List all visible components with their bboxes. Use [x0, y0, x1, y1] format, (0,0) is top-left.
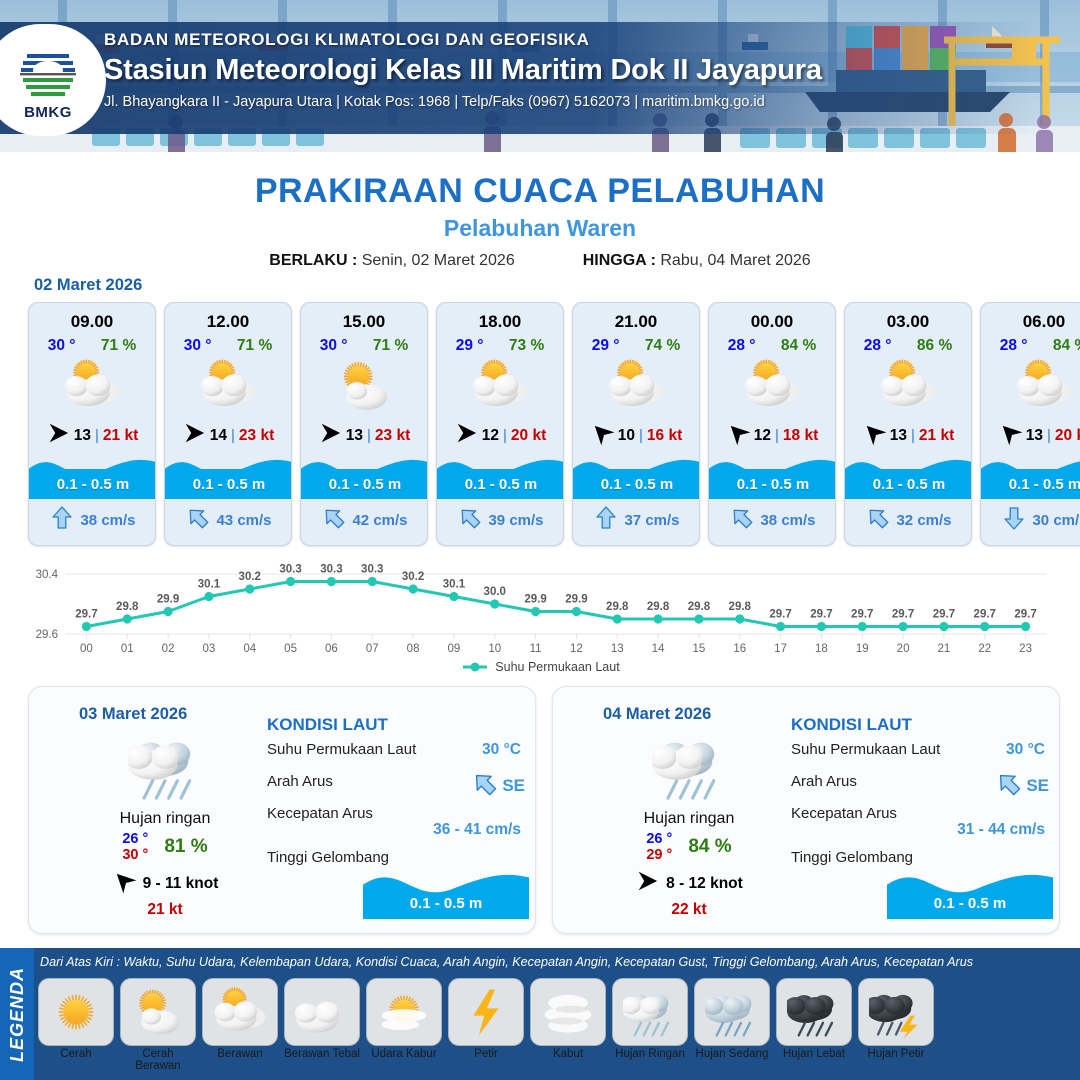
legend-item-label: Cerah Berawan: [120, 1048, 196, 1072]
legend-item: Berawan: [202, 978, 278, 1072]
card-wind: 12 | 20 kt: [437, 421, 563, 450]
sea-row-label: Tinggi Gelombang: [267, 849, 389, 866]
card-humidity: 86 %: [917, 337, 952, 355]
card-temp-humidity: 30 ° 71 %: [301, 337, 427, 355]
daily-forecast-panels: 03 Maret 2026 Hujan ringan: [28, 686, 1060, 934]
card-wave-height: 0.1 - 0.5 m: [165, 476, 292, 493]
card-temperature: 30 °: [48, 337, 76, 355]
svg-text:30.2: 30.2: [402, 571, 424, 583]
svg-text:29.9: 29.9: [157, 594, 179, 606]
card-wave-height: 0.1 - 0.5 m: [573, 476, 700, 493]
legend-item: Hujan Sedang: [694, 978, 770, 1072]
legend-side-label: LEGENDA: [7, 966, 28, 1061]
wind-direction-arrow-icon: [862, 421, 886, 450]
sea-row-value: 30 °C: [482, 741, 521, 759]
panel-wind: 8 - 12 knot: [579, 869, 799, 898]
card-temp-humidity: 29 ° 73 %: [437, 337, 563, 355]
card-gust: 16 kt: [647, 427, 682, 445]
forecast-date-label: 02 Maret 2026: [34, 276, 142, 295]
svg-text:06: 06: [325, 643, 338, 655]
legend-item-label: Hujan Lebat: [776, 1048, 852, 1060]
title-block: PRAKIRAAN CUACA PELABUHAN Pelabuhan Ware…: [0, 172, 1080, 270]
validity-range: BERLAKU : Senin, 02 Maret 2026 HINGGA : …: [0, 252, 1080, 270]
svg-text:29.8: 29.8: [729, 601, 752, 613]
sea-row-current-direction: Arah Arus SE: [791, 773, 1053, 805]
svg-text:22: 22: [978, 643, 991, 655]
svg-text:29.7: 29.7: [851, 609, 873, 621]
card-temperature: 29 °: [456, 337, 484, 355]
card-temperature: 30 °: [320, 337, 348, 355]
sea-row-sst: Suhu Permukaan Laut 30 °C: [267, 741, 529, 773]
panel-temp-min: 26 °: [122, 831, 148, 847]
haze-icon: [366, 978, 442, 1046]
wind-direction-arrow-icon: [726, 421, 750, 450]
heavy-rain-icon: [776, 978, 852, 1046]
legend-bar: LEGENDA Dari Atas Kiri : Waktu, Suhu Uda…: [0, 948, 1080, 1080]
legend-item-label: Berawan Tebal: [284, 1048, 360, 1060]
wind-direction-arrow-icon: [182, 421, 206, 450]
card-current: 39 cm/s: [437, 506, 564, 535]
card-time: 03.00: [845, 312, 971, 332]
hourly-forecast-row: 09.00 30 ° 71 % 13 | 21 kt: [28, 302, 1080, 546]
panel-weather-summary: Hujan ringan 26 ° 29 ° 84 % 8 - 12 knot …: [579, 729, 799, 919]
sunny-icon: [38, 978, 114, 1046]
cloudy-icon: [284, 978, 360, 1046]
card-wind-separator: |: [95, 427, 99, 444]
panel-gust: 21 kt: [55, 901, 275, 919]
svg-text:09: 09: [448, 643, 461, 655]
legend-item: Berawan Tebal: [284, 978, 360, 1072]
card-humidity: 74 %: [645, 337, 680, 355]
sea-row-label: Arah Arus: [791, 773, 857, 790]
svg-text:08: 08: [407, 643, 420, 655]
card-wind-separator: |: [367, 427, 371, 444]
current-direction-arrow-icon: [458, 506, 482, 535]
daily-forecast-panel: 03 Maret 2026 Hujan ringan: [28, 686, 536, 934]
card-current-speed: 42 cm/s: [352, 512, 407, 529]
chart-legend-label: Suhu Permukaan Laut: [495, 660, 619, 674]
svg-text:30.1: 30.1: [198, 579, 221, 591]
panel-condition: Hujan ringan: [55, 810, 275, 828]
wind-direction-arrow-icon: [998, 421, 1022, 450]
panel-temperatures: 26 ° 30 ° 81 %: [55, 831, 275, 863]
card-wind-speed: 12: [754, 427, 771, 445]
wind-direction-arrow-icon: [46, 421, 70, 450]
card-current-speed: 37 cm/s: [624, 512, 679, 529]
legend-item-label: Berawan: [202, 1048, 278, 1060]
svg-text:23: 23: [1019, 643, 1032, 655]
sea-row-label: Kecepatan Arus: [791, 805, 897, 822]
card-current: 38 cm/s: [709, 506, 836, 535]
panel-gust: 22 kt: [579, 901, 799, 919]
card-gust: 23 kt: [375, 427, 410, 445]
panel-humidity: 84 %: [688, 836, 731, 858]
current-direction-arrow-icon: [866, 506, 890, 535]
sea-row-value: 36 - 41 cm/s: [433, 821, 521, 839]
card-wind: 14 | 23 kt: [165, 421, 291, 450]
bmkg-logo-text: BMKG: [24, 104, 72, 121]
card-wave-height: 0.1 - 0.5 m: [29, 476, 156, 493]
page-title: PRAKIRAAN CUACA PELABUHAN: [0, 172, 1080, 211]
valid-to: HINGGA : Rabu, 04 Maret 2026: [583, 252, 811, 270]
card-current: 43 cm/s: [165, 506, 292, 535]
card-wind-separator: |: [911, 427, 915, 444]
card-time: 18.00: [437, 312, 563, 332]
card-wind: 13 | 23 kt: [301, 421, 427, 450]
card-current-speed: 32 cm/s: [896, 512, 951, 529]
card-temperature: 28 °: [1000, 337, 1028, 355]
current-direction-arrow-icon: [1002, 506, 1026, 535]
card-wind-speed: 13: [1026, 427, 1043, 445]
partly-cloudy-icon: [165, 357, 291, 415]
current-direction-arrow-icon: [472, 771, 498, 801]
card-wave-height: 0.1 - 0.5 m: [981, 476, 1080, 493]
panel-condition: Hujan ringan: [579, 810, 799, 828]
partly-cloudy-icon: [845, 357, 971, 415]
sea-row-value: 31 - 44 cm/s: [957, 821, 1045, 839]
svg-text:21: 21: [938, 643, 951, 655]
card-time: 21.00: [573, 312, 699, 332]
legend-item-label: Cerah: [38, 1048, 114, 1060]
legend-item: Hujan Lebat: [776, 978, 852, 1072]
card-wind: 12 | 18 kt: [709, 421, 835, 450]
wind-direction-arrow-icon: [318, 421, 342, 450]
card-humidity: 71 %: [373, 337, 408, 355]
sea-condition-title: KONDISI LAUT: [267, 715, 529, 735]
svg-text:29.9: 29.9: [565, 594, 587, 606]
card-temp-humidity: 28 ° 84 %: [981, 337, 1080, 355]
hourly-forecast-card: 03.00 28 ° 86 % 13 | 21 kt: [844, 302, 972, 546]
hourly-forecast-card: 15.00 30 ° 71 % 13 | 23 kt 0.: [300, 302, 428, 546]
card-current: 42 cm/s: [301, 506, 428, 535]
daily-forecast-panel: 04 Maret 2026 Hujan ringan: [552, 686, 1060, 934]
card-gust: 20 kt: [511, 427, 546, 445]
current-direction-arrow-icon: [186, 506, 210, 535]
legend-item: Cerah Berawan: [120, 978, 196, 1072]
svg-text:29.7: 29.7: [974, 609, 996, 621]
card-temp-humidity: 29 ° 74 %: [573, 337, 699, 355]
valid-from-value: Senin, 02 Maret 2026: [362, 252, 515, 269]
svg-text:17: 17: [774, 643, 787, 655]
card-wind-separator: |: [231, 427, 235, 444]
valid-from-label: BERLAKU :: [269, 252, 357, 269]
panel-wind: 9 - 11 knot: [55, 869, 275, 898]
panel-wind-range: 9 - 11 knot: [143, 875, 219, 893]
card-gust: 23 kt: [239, 427, 274, 445]
card-wind-speed: 14: [210, 427, 227, 445]
light-rain-icon: [55, 729, 275, 808]
partly-cloudy-icon: [709, 357, 835, 415]
card-current: 30 cm/s: [981, 506, 1080, 535]
svg-text:10: 10: [488, 643, 501, 655]
sea-row-value: 30 °C: [1006, 741, 1045, 759]
valid-to-label: HINGGA :: [583, 252, 656, 269]
svg-text:02: 02: [162, 643, 175, 655]
card-wind-separator: |: [639, 427, 643, 444]
sst-chart-svg: 30.429.600010203040506070809101112131415…: [18, 556, 1064, 660]
port-name: Pelabuhan Waren: [0, 215, 1080, 242]
card-time: 12.00: [165, 312, 291, 332]
card-wind: 13 | 21 kt: [29, 421, 155, 450]
svg-text:05: 05: [284, 643, 297, 655]
current-direction-arrow-icon: [996, 771, 1022, 801]
card-time: 06.00: [981, 312, 1080, 332]
chart-legend: Suhu Permukaan Laut: [18, 660, 1064, 674]
svg-text:14: 14: [652, 643, 665, 655]
svg-text:29.9: 29.9: [524, 594, 546, 606]
legend-side-tab: LEGENDA: [0, 948, 34, 1080]
panel-temp-min: 26 °: [646, 831, 672, 847]
station-address: Jl. Bhayangkara II - Jayapura Utara | Ko…: [104, 94, 822, 110]
sea-row-current-direction: Arah Arus SE: [267, 773, 529, 805]
card-wind-speed: 13: [890, 427, 907, 445]
card-temp-humidity: 30 ° 71 %: [29, 337, 155, 355]
legend-item: Hujan Ringan: [612, 978, 688, 1072]
card-humidity: 84 %: [781, 337, 816, 355]
card-current: 37 cm/s: [573, 506, 700, 535]
svg-text:07: 07: [366, 643, 379, 655]
header-text-block: BADAN METEOROLOGI KLIMATOLOGI DAN GEOFIS…: [104, 30, 822, 110]
card-gust: 18 kt: [783, 427, 818, 445]
partly-cloudy-icon: [437, 357, 563, 415]
hourly-forecast-card: 21.00 29 ° 74 % 10 | 16 kt: [572, 302, 700, 546]
panel-wave-graphic: 0.1 - 0.5 m: [887, 867, 1053, 919]
card-gust: 21 kt: [103, 427, 138, 445]
legend-item: Hujan Petir: [858, 978, 934, 1072]
sea-row-value: SE: [502, 776, 525, 796]
legend-item-list: Cerah Cerah Berawan Be: [38, 978, 934, 1072]
current-direction-arrow-icon: [730, 506, 754, 535]
mostly-sunny-icon: [301, 357, 427, 415]
svg-text:18: 18: [815, 643, 828, 655]
card-humidity: 71 %: [101, 337, 136, 355]
sea-row-current-speed: Kecepatan Arus 31 - 44 cm/s: [791, 805, 1053, 837]
card-gust: 21 kt: [919, 427, 954, 445]
legend-item-label: Hujan Ringan: [612, 1048, 688, 1060]
legend-item: Kabut: [530, 978, 606, 1072]
card-temp-humidity: 28 ° 86 %: [845, 337, 971, 355]
light-rain-icon: [579, 729, 799, 808]
svg-text:30.2: 30.2: [239, 571, 261, 583]
card-temperature: 29 °: [592, 337, 620, 355]
sea-row-label: Kecepatan Arus: [267, 805, 373, 822]
hourly-forecast-card: 09.00 30 ° 71 % 13 | 21 kt: [28, 302, 156, 546]
mostly-sunny-icon: [120, 978, 196, 1046]
svg-text:04: 04: [243, 643, 256, 655]
card-wind-speed: 12: [482, 427, 499, 445]
svg-text:29.7: 29.7: [769, 609, 791, 621]
svg-text:20: 20: [897, 643, 910, 655]
sea-row-label: Suhu Permukaan Laut: [791, 741, 940, 758]
valid-from: BERLAKU : Senin, 02 Maret 2026: [269, 252, 514, 270]
sea-condition-block: KONDISI LAUT Suhu Permukaan Laut 30 °C A…: [267, 715, 529, 881]
card-current: 38 cm/s: [29, 506, 156, 535]
card-temperature: 30 °: [184, 337, 212, 355]
valid-to-value: Rabu, 04 Maret 2026: [660, 252, 810, 269]
page-header: BMKG BADAN METEOROLOGI KLIMATOLOGI DAN G…: [0, 0, 1080, 158]
legend-item-label: Udara Kabur: [366, 1048, 442, 1060]
card-wave-height: 0.1 - 0.5 m: [845, 476, 972, 493]
card-current: 32 cm/s: [845, 506, 972, 535]
svg-text:30.3: 30.3: [361, 564, 383, 576]
svg-text:29.7: 29.7: [75, 609, 97, 621]
sea-row-current-speed: Kecepatan Arus 36 - 41 cm/s: [267, 805, 529, 837]
moderate-rain-icon: [694, 978, 770, 1046]
svg-text:00: 00: [80, 643, 93, 655]
agency-name: BADAN METEOROLOGI KLIMATOLOGI DAN GEOFIS…: [104, 30, 822, 50]
svg-text:29.7: 29.7: [892, 609, 914, 621]
svg-text:29.6: 29.6: [36, 629, 58, 641]
station-name: Stasiun Meteorologi Kelas III Maritim Do…: [104, 54, 822, 87]
card-time: 09.00: [29, 312, 155, 332]
card-wind: 13 | 21 kt: [845, 421, 971, 450]
current-direction-arrow-icon: [594, 506, 618, 535]
partly-cloudy-icon: [573, 357, 699, 415]
legend-item: Cerah: [38, 978, 114, 1072]
panel-date: 04 Maret 2026: [603, 705, 711, 724]
hourly-forecast-card: 12.00 30 ° 71 % 14 | 23 kt: [164, 302, 292, 546]
panel-date: 03 Maret 2026: [79, 705, 187, 724]
svg-text:03: 03: [203, 643, 216, 655]
legend-item: Udara Kabur: [366, 978, 442, 1072]
sea-row-sst: Suhu Permukaan Laut 30 °C: [791, 741, 1053, 773]
card-temp-humidity: 30 ° 71 %: [165, 337, 291, 355]
card-wind-separator: |: [1047, 427, 1051, 444]
bmkg-logo-icon: [17, 40, 79, 102]
svg-text:30.4: 30.4: [36, 569, 59, 581]
current-direction-arrow-icon: [50, 506, 74, 535]
sea-row-value: SE: [1026, 776, 1049, 796]
card-wind-separator: |: [503, 427, 507, 444]
thunderstorm-icon: [858, 978, 934, 1046]
panel-temp-max: 30 °: [122, 847, 148, 863]
svg-text:13: 13: [611, 643, 624, 655]
svg-text:30.3: 30.3: [320, 564, 342, 576]
sea-condition-title: KONDISI LAUT: [791, 715, 1053, 735]
hourly-forecast-card: 06.00 28 ° 84 % 13 | 20 kt: [980, 302, 1080, 546]
card-humidity: 71 %: [237, 337, 272, 355]
panel-temperatures: 26 ° 29 ° 84 %: [579, 831, 799, 863]
card-wave-height: 0.1 - 0.5 m: [437, 476, 564, 493]
card-time: 00.00: [709, 312, 835, 332]
sea-condition-block: KONDISI LAUT Suhu Permukaan Laut 30 °C A…: [791, 715, 1053, 881]
svg-text:29.8: 29.8: [606, 601, 629, 613]
svg-text:29.8: 29.8: [116, 601, 139, 613]
legend-item-label: Kabut: [530, 1048, 606, 1060]
svg-text:12: 12: [570, 643, 583, 655]
card-current-speed: 38 cm/s: [80, 512, 135, 529]
card-wind-separator: |: [775, 427, 779, 444]
card-wave-height: 0.1 - 0.5 m: [301, 476, 428, 493]
panel-wave-height: 0.1 - 0.5 m: [363, 895, 529, 912]
svg-text:29.7: 29.7: [810, 609, 832, 621]
hourly-forecast-card: 18.00 29 ° 73 % 12 | 20 kt: [436, 302, 564, 546]
svg-text:30.3: 30.3: [279, 564, 301, 576]
svg-text:29.8: 29.8: [688, 601, 711, 613]
card-wind: 13 | 20 kt: [981, 421, 1080, 450]
card-temperature: 28 °: [864, 337, 892, 355]
legend-note: Dari Atas Kiri : Waktu, Suhu Udara, Kele…: [40, 955, 1076, 969]
panel-weather-summary: Hujan ringan 26 ° 30 ° 81 % 9 - 11 knot …: [55, 729, 275, 919]
sea-row-label: Tinggi Gelombang: [791, 849, 913, 866]
panel-humidity: 81 %: [164, 836, 207, 858]
svg-text:15: 15: [693, 643, 706, 655]
sst-chart: 30.429.600010203040506070809101112131415…: [18, 556, 1064, 684]
card-wind-speed: 13: [74, 427, 91, 445]
svg-text:30.0: 30.0: [484, 586, 506, 598]
light-rain-icon: [612, 978, 688, 1046]
wind-direction-arrow-icon: [454, 421, 478, 450]
card-humidity: 84 %: [1053, 337, 1080, 355]
current-direction-arrow-icon: [322, 506, 346, 535]
card-current-speed: 30 cm/s: [1032, 512, 1080, 529]
hourly-forecast-card: 00.00 28 ° 84 % 12 | 18 kt: [708, 302, 836, 546]
svg-text:29.7: 29.7: [1014, 609, 1036, 621]
card-wind: 10 | 16 kt: [573, 421, 699, 450]
partly-cloudy-icon: [981, 357, 1080, 415]
panel-wave-height: 0.1 - 0.5 m: [887, 895, 1053, 912]
partly-cloudy-icon: [202, 978, 278, 1046]
card-time: 15.00: [301, 312, 427, 332]
legend-marker-icon: [462, 661, 488, 673]
card-temp-humidity: 28 ° 84 %: [709, 337, 835, 355]
card-wave-height: 0.1 - 0.5 m: [709, 476, 836, 493]
legend-item-label: Hujan Sedang: [694, 1048, 770, 1060]
legend-item-label: Petir: [448, 1048, 524, 1060]
svg-text:29.7: 29.7: [933, 609, 955, 621]
panel-wave-graphic: 0.1 - 0.5 m: [363, 867, 529, 919]
sea-row-label: Arah Arus: [267, 773, 333, 790]
svg-text:30.1: 30.1: [443, 579, 466, 591]
card-current-speed: 38 cm/s: [760, 512, 815, 529]
fog-icon: [530, 978, 606, 1046]
legend-item-label: Hujan Petir: [858, 1048, 934, 1060]
wind-direction-arrow-icon: [635, 869, 659, 898]
svg-text:29.8: 29.8: [647, 601, 670, 613]
card-current-speed: 43 cm/s: [216, 512, 271, 529]
card-gust: 20 kt: [1055, 427, 1080, 445]
panel-wind-range: 8 - 12 knot: [666, 875, 743, 893]
sea-row-label: Suhu Permukaan Laut: [267, 741, 416, 758]
wind-direction-arrow-icon: [590, 421, 614, 450]
card-humidity: 73 %: [509, 337, 544, 355]
panel-temp-max: 29 °: [646, 847, 672, 863]
legend-item: Petir: [448, 978, 524, 1072]
wind-direction-arrow-icon: [112, 869, 136, 898]
card-wind-speed: 10: [618, 427, 635, 445]
svg-text:01: 01: [121, 643, 134, 655]
card-wind-speed: 13: [346, 427, 363, 445]
svg-text:16: 16: [733, 643, 746, 655]
card-temperature: 28 °: [728, 337, 756, 355]
svg-text:19: 19: [856, 643, 869, 655]
svg-text:11: 11: [530, 643, 542, 655]
card-current-speed: 39 cm/s: [488, 512, 543, 529]
lightning-icon: [448, 978, 524, 1046]
partly-cloudy-icon: [29, 357, 155, 415]
